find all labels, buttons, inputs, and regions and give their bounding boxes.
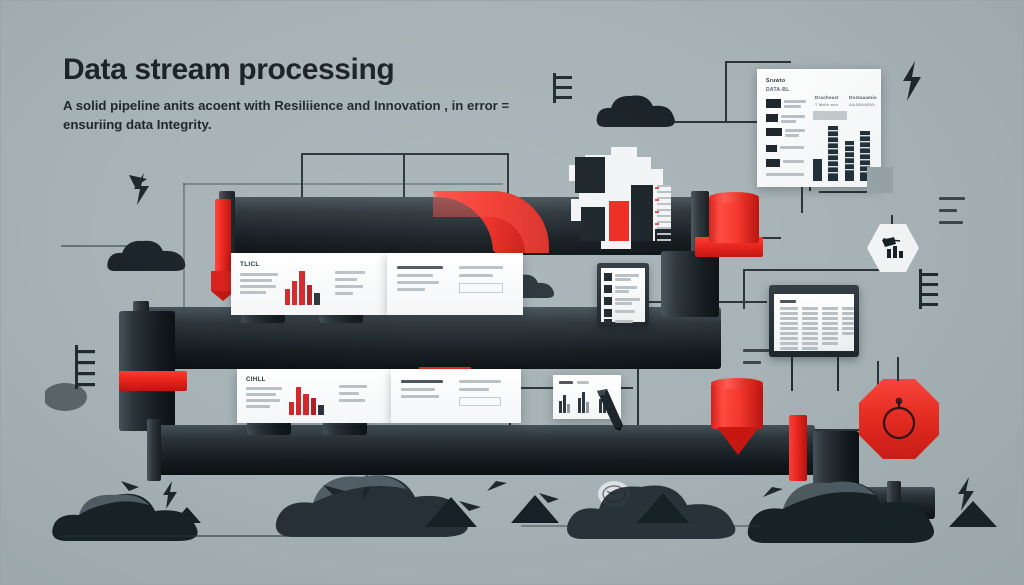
debris-shape xyxy=(323,483,347,497)
illustration-canvas: Data stream processing A solid pipeline … xyxy=(0,0,1024,585)
debris-shape xyxy=(763,487,785,501)
debris-shape xyxy=(487,481,509,495)
rock-shape xyxy=(69,509,109,531)
cloud-shape xyxy=(45,373,97,413)
rock-shape xyxy=(173,507,201,523)
debris-shape xyxy=(539,491,561,505)
foreground-smoke-layer xyxy=(1,1,1023,584)
ground-line xyxy=(521,525,761,527)
rock-shape xyxy=(949,501,997,527)
debris-shape xyxy=(459,499,483,513)
ground-line xyxy=(61,535,441,537)
cloud-shape xyxy=(741,467,961,547)
rock-shape xyxy=(637,493,689,523)
debris-shape xyxy=(121,479,141,493)
